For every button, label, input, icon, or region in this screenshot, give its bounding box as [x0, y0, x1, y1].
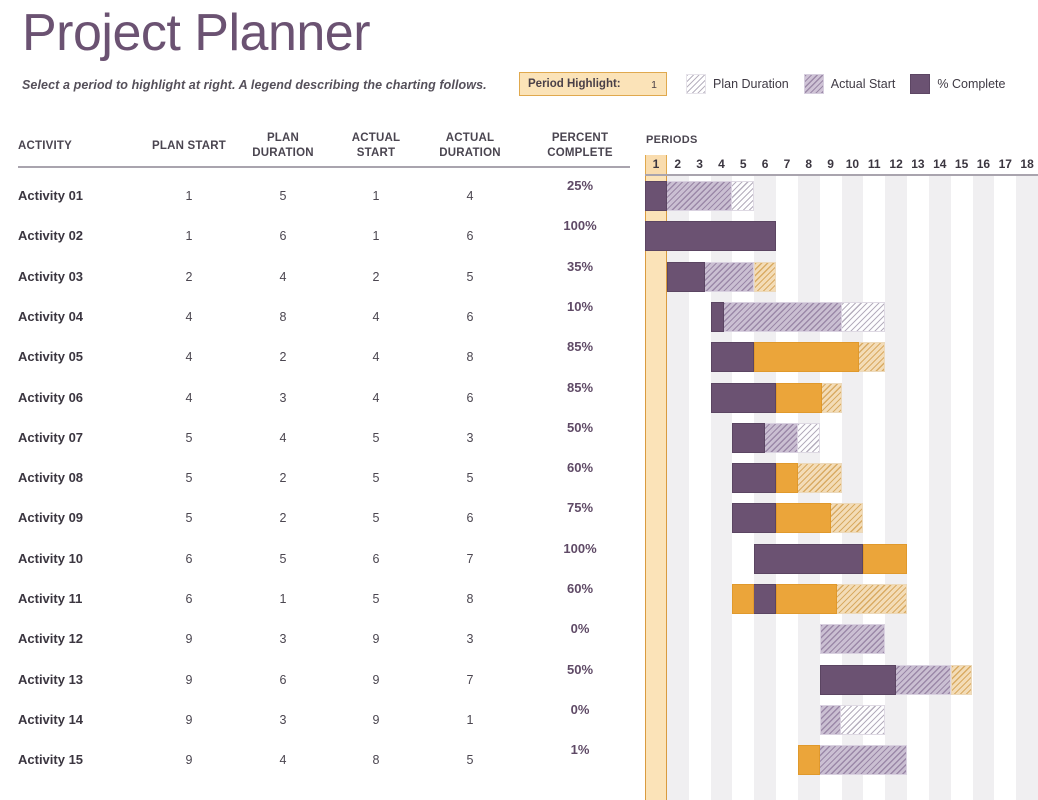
table-row[interactable]: Activity 1594851%	[0, 740, 1038, 780]
row-actual-start: 5	[330, 418, 422, 458]
row-plan-start: 5	[135, 418, 243, 458]
row-actual-duration: 1	[420, 700, 520, 740]
row-actual-start: 4	[330, 337, 422, 377]
gantt-row-bars	[645, 740, 1038, 780]
bar-percent-complete	[711, 383, 777, 413]
bar-overrun-complete	[754, 342, 859, 372]
row-percent-complete: 50%	[525, 655, 635, 685]
period-header-18[interactable]: 18	[1016, 155, 1038, 174]
row-actual-duration: 8	[420, 337, 520, 377]
row-actual-start: 1	[330, 216, 422, 256]
row-plan-start: 4	[135, 297, 243, 337]
row-actual-duration: 5	[420, 257, 520, 297]
row-plan-duration: 2	[235, 337, 331, 377]
legend-item-percent-complete: % Complete	[910, 74, 1005, 94]
gantt-row-bars	[645, 176, 1038, 216]
bar-overrun-plan	[951, 665, 973, 695]
row-percent-complete: 100%	[525, 211, 635, 241]
bar-overrun-complete	[776, 383, 822, 413]
row-plan-duration: 5	[235, 539, 331, 579]
gantt-row-bars	[645, 418, 1038, 458]
legend-label-percent-complete: % Complete	[937, 77, 1005, 91]
row-plan-start: 9	[135, 619, 243, 659]
row-percent-complete: 25%	[525, 171, 635, 201]
row-plan-start: 4	[135, 378, 243, 418]
row-actual-duration: 5	[420, 740, 520, 780]
row-actual-start: 2	[330, 257, 422, 297]
column-header-percent-complete-line2: COMPLETE	[525, 146, 635, 161]
legend-item-plan-duration: Plan Duration	[686, 74, 789, 94]
row-actual-duration: 6	[420, 498, 520, 538]
period-header-13[interactable]: 13	[907, 155, 929, 174]
table-row[interactable]: Activity 01151425%	[0, 176, 1038, 216]
bar-percent-complete	[711, 342, 755, 372]
period-header-4[interactable]: 4	[711, 155, 733, 174]
gantt-row-bars	[645, 297, 1038, 337]
row-plan-start: 5	[135, 458, 243, 498]
row-actual-start: 8	[330, 740, 422, 780]
bar-overrun-complete	[776, 503, 831, 533]
column-header-actual-duration-line2: DURATION	[420, 146, 520, 161]
gantt-row-bars	[645, 539, 1038, 579]
row-plan-start: 5	[135, 498, 243, 538]
period-header-6[interactable]: 6	[754, 155, 776, 174]
row-plan-start: 1	[135, 176, 243, 216]
row-plan-duration: 4	[235, 257, 331, 297]
period-highlight-label: Period Highlight:	[528, 78, 621, 90]
table-row[interactable]: Activity 06434685%	[0, 378, 1038, 418]
plan-duration-swatch-icon	[686, 74, 706, 94]
row-plan-start: 2	[135, 257, 243, 297]
column-header-actual-duration-line1: ACTUAL	[420, 131, 520, 146]
bar-actual-start	[820, 624, 886, 654]
column-header-plan-duration: PLAN DURATION	[235, 131, 331, 161]
table-row[interactable]: Activity 05424885%	[0, 337, 1038, 377]
table-row[interactable]: Activity 09525675%	[0, 498, 1038, 538]
legend-label-actual-start: Actual Start	[831, 77, 896, 91]
row-percent-complete: 75%	[525, 493, 635, 523]
row-plan-duration: 4	[235, 740, 331, 780]
row-plan-duration: 6	[235, 216, 331, 256]
row-percent-complete: 35%	[525, 252, 635, 282]
row-percent-complete: 50%	[525, 413, 635, 443]
page-subtitle: Select a period to highlight at right. A…	[22, 78, 487, 92]
row-actual-start: 6	[330, 539, 422, 579]
row-actual-duration: 7	[420, 539, 520, 579]
page-title: Project Planner	[22, 2, 370, 64]
gantt-row-bars	[645, 337, 1038, 377]
table-row[interactable]: Activity 021616100%	[0, 216, 1038, 256]
period-header-14[interactable]: 14	[929, 155, 951, 174]
row-actual-start: 9	[330, 660, 422, 700]
row-percent-complete: 100%	[525, 534, 635, 564]
row-plan-duration: 3	[235, 619, 331, 659]
row-percent-complete: 10%	[525, 292, 635, 322]
row-plan-start: 1	[135, 216, 243, 256]
gantt-row-bars	[645, 619, 1038, 659]
legend-item-actual-start: Actual Start	[804, 74, 896, 94]
period-header-17[interactable]: 17	[994, 155, 1016, 174]
row-actual-duration: 4	[420, 176, 520, 216]
column-header-percent-complete-line1: PERCENT	[525, 131, 635, 146]
bar-percent-complete	[645, 221, 776, 251]
row-actual-start: 5	[330, 579, 422, 619]
table-row[interactable]: Activity 07545350%	[0, 418, 1038, 458]
bar-overrun-complete	[776, 584, 837, 614]
percent-complete-swatch-icon	[910, 74, 930, 94]
gantt-row-bars	[645, 498, 1038, 538]
bar-percent-complete	[732, 503, 776, 533]
row-actual-start: 4	[330, 297, 422, 337]
column-header-actual-start-line2: START	[330, 146, 422, 161]
row-plan-duration: 8	[235, 297, 331, 337]
column-header-actual-duration: ACTUAL DURATION	[420, 131, 520, 161]
bar-percent-complete	[711, 302, 724, 332]
row-actual-duration: 3	[420, 418, 520, 458]
period-header-5[interactable]: 5	[732, 155, 754, 174]
row-percent-complete: 0%	[525, 614, 635, 644]
column-header-actual-start: ACTUAL START	[330, 131, 422, 161]
table-row[interactable]: Activity 08525560%	[0, 458, 1038, 498]
periods-axis: 123456789101112131415161718	[645, 155, 1038, 174]
row-actual-duration: 6	[420, 297, 520, 337]
row-plan-duration: 4	[235, 418, 331, 458]
row-percent-complete: 85%	[525, 373, 635, 403]
legend-label-plan-duration: Plan Duration	[713, 77, 789, 91]
row-percent-complete: 60%	[525, 453, 635, 483]
bar-percent-complete	[820, 665, 896, 695]
gantt-row-bars	[645, 458, 1038, 498]
period-highlight-control[interactable]: Period Highlight: 1	[519, 72, 667, 96]
gantt-row-bars	[645, 579, 1038, 619]
period-header-10[interactable]: 10	[842, 155, 864, 174]
row-plan-duration: 6	[235, 660, 331, 700]
period-highlight-value[interactable]: 1	[651, 79, 657, 91]
gantt-row-bars	[645, 257, 1038, 297]
row-percent-complete: 0%	[525, 695, 635, 725]
row-actual-start: 5	[330, 498, 422, 538]
row-plan-start: 9	[135, 740, 243, 780]
bar-overrun-plan	[754, 262, 776, 292]
project-planner-page: Project Planner Select a period to highl…	[0, 0, 1038, 800]
row-actual-duration: 3	[420, 619, 520, 659]
bar-early-start	[798, 745, 820, 775]
row-actual-duration: 6	[420, 378, 520, 418]
row-plan-start: 9	[135, 660, 243, 700]
row-actual-duration: 6	[420, 216, 520, 256]
gantt-row-bars	[645, 700, 1038, 740]
bar-percent-complete	[732, 463, 776, 493]
column-header-actual-start-line1: ACTUAL	[330, 131, 422, 146]
column-header-plan-duration-line1: PLAN	[235, 131, 331, 146]
row-actual-duration: 7	[420, 660, 520, 700]
period-header-15[interactable]: 15	[951, 155, 973, 174]
row-plan-duration: 1	[235, 579, 331, 619]
row-plan-duration: 2	[235, 498, 331, 538]
gantt-row-bars	[645, 660, 1038, 700]
row-actual-start: 5	[330, 458, 422, 498]
chart-legend: Plan Duration Actual Start % Complete	[686, 74, 1020, 94]
column-header-plan-duration-line2: DURATION	[235, 146, 331, 161]
table-row[interactable]: Activity 1493910%	[0, 700, 1038, 740]
period-header-11[interactable]: 11	[863, 155, 885, 174]
row-percent-complete: 1%	[525, 735, 635, 765]
table-row[interactable]: Activity 13969750%	[0, 660, 1038, 700]
gantt-row-bars	[645, 378, 1038, 418]
table-row[interactable]: Activity 1293930%	[0, 619, 1038, 659]
row-actual-start: 1	[330, 176, 422, 216]
row-actual-start: 4	[330, 378, 422, 418]
period-header-16[interactable]: 16	[973, 155, 995, 174]
period-header-12[interactable]: 12	[885, 155, 907, 174]
bar-early-start	[732, 584, 754, 614]
row-actual-start: 9	[330, 700, 422, 740]
column-header-activity: ACTIVITY	[18, 139, 138, 154]
bar-actual-start	[820, 705, 842, 735]
column-header-percent-complete: PERCENT COMPLETE	[525, 131, 635, 161]
row-percent-complete: 60%	[525, 574, 635, 604]
row-plan-start: 6	[135, 539, 243, 579]
row-actual-duration: 5	[420, 458, 520, 498]
bar-overrun-complete	[776, 463, 798, 493]
table-header: ACTIVITY PLAN START PLAN DURATION ACTUAL…	[0, 125, 640, 167]
row-actual-duration: 8	[420, 579, 520, 619]
bar-overrun-complete	[863, 544, 907, 574]
row-plan-start: 4	[135, 337, 243, 377]
row-plan-start: 9	[135, 700, 243, 740]
row-actual-start: 9	[330, 619, 422, 659]
activity-rows: Activity 01151425%Activity 021616100%Act…	[0, 176, 1038, 800]
period-header-1[interactable]: 1	[645, 155, 667, 174]
bar-percent-complete	[667, 262, 705, 292]
table-row[interactable]: Activity 03242535%	[0, 257, 1038, 297]
bar-percent-complete	[732, 423, 765, 453]
table-row[interactable]: Activity 11615860%	[0, 579, 1038, 619]
row-plan-duration: 3	[235, 378, 331, 418]
gantt-row-bars	[645, 216, 1038, 256]
bar-actual-start	[711, 302, 842, 332]
period-header-3[interactable]: 3	[689, 155, 711, 174]
table-row[interactable]: Activity 04484610%	[0, 297, 1038, 337]
period-header-8[interactable]: 8	[798, 155, 820, 174]
row-plan-duration: 5	[235, 176, 331, 216]
row-plan-duration: 3	[235, 700, 331, 740]
row-plan-start: 6	[135, 579, 243, 619]
period-header-2[interactable]: 2	[667, 155, 689, 174]
periods-caption: PERIODS	[646, 134, 698, 146]
table-row[interactable]: Activity 106567100%	[0, 539, 1038, 579]
row-plan-duration: 2	[235, 458, 331, 498]
table-header-divider	[18, 166, 630, 168]
period-header-9[interactable]: 9	[820, 155, 842, 174]
column-header-plan-start: PLAN START	[135, 139, 243, 154]
bar-percent-complete	[645, 181, 667, 211]
period-header-7[interactable]: 7	[776, 155, 798, 174]
row-percent-complete: 85%	[525, 332, 635, 362]
bar-percent-complete	[754, 544, 863, 574]
actual-start-swatch-icon	[804, 74, 824, 94]
